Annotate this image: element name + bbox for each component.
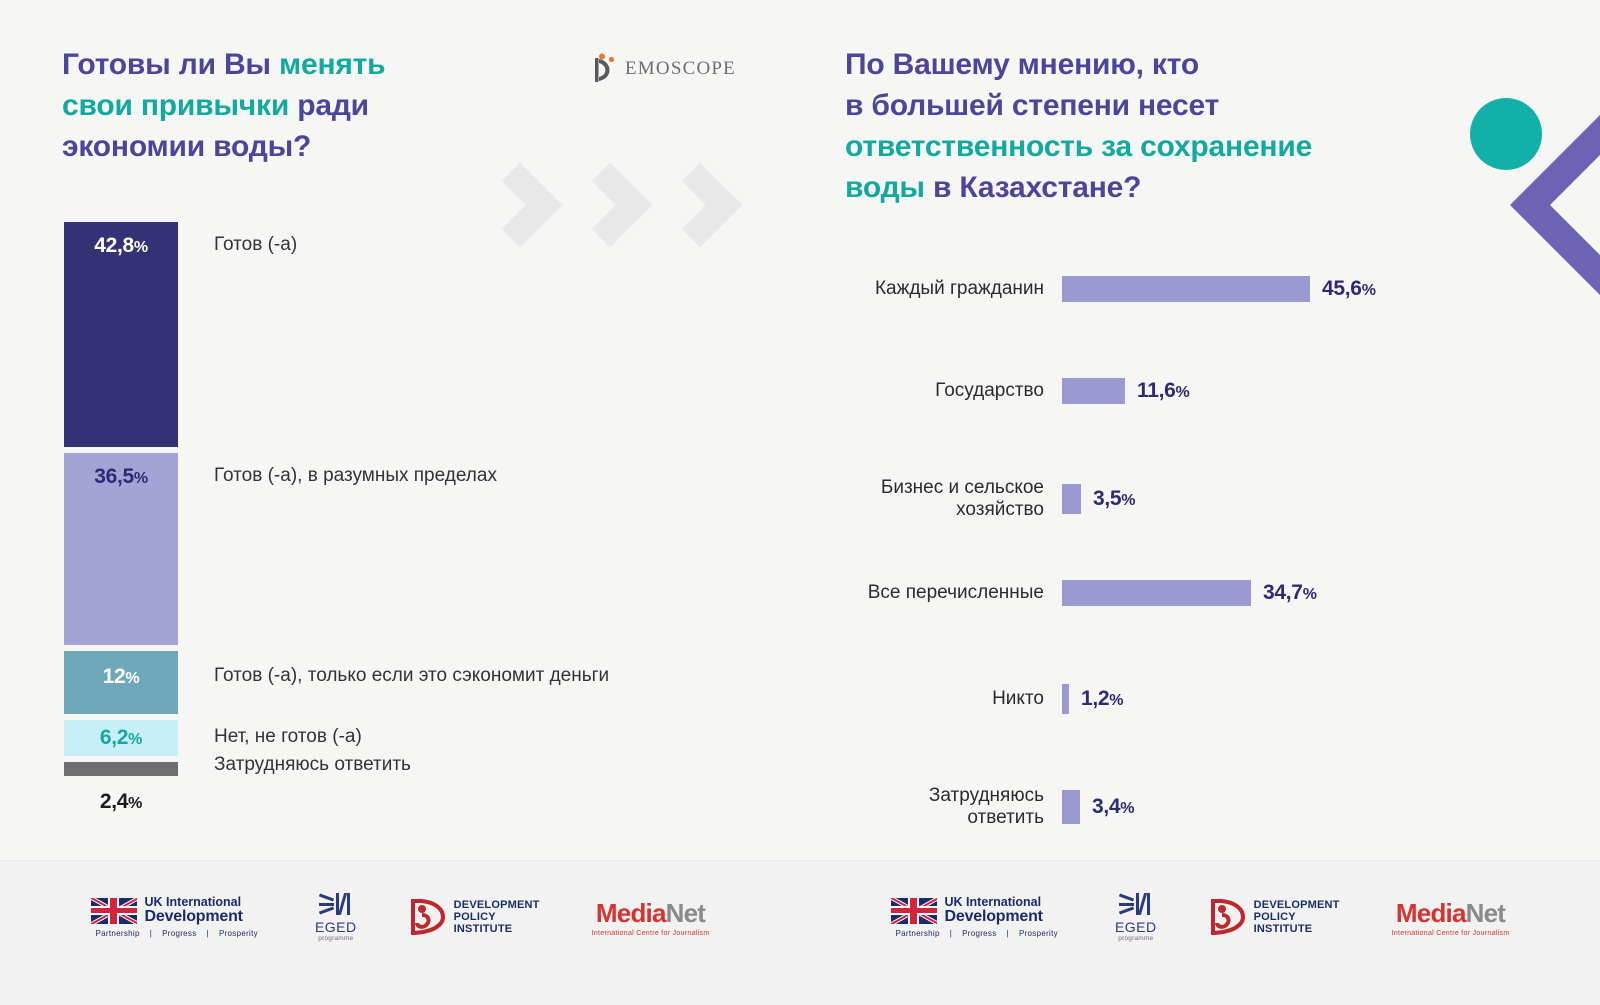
title-part: воды	[845, 171, 933, 204]
ukaid-tagline: Partnership|Progress|Prosperity	[91, 929, 263, 938]
row-value-label: 11,6%	[1137, 379, 1189, 403]
row-bar	[1062, 790, 1080, 824]
dpi-mark-icon	[1209, 899, 1245, 935]
row-category-label: Бизнес и сельскоехозяйство	[800, 477, 1062, 522]
ukaid-tagline: Partnership|Progress|Prosperity	[891, 929, 1063, 938]
row-zatrudnyayus-otvetit[interactable]: Затрудняюсьответить 3,4%	[800, 785, 1600, 830]
dpi-mark-icon	[409, 899, 445, 935]
row-category-label: Затрудняюсьответить	[800, 785, 1062, 830]
dpi-line2: POLICY	[454, 911, 540, 923]
title-part: ответственность за сохранение	[845, 130, 1312, 163]
row-kazhdyy-grazhdanin[interactable]: Каждый гражданин 45,6%	[800, 276, 1600, 302]
eged-mark-icon	[1119, 893, 1153, 917]
title-part: свои привычки	[62, 89, 297, 122]
row-value-label: 45,6%	[1322, 277, 1376, 301]
bar-gotov[interactable]: 42,8% Готов (-а)	[64, 222, 178, 447]
ukaid-line1: UK International	[945, 896, 1043, 909]
dpi-line1: DEVELOPMENT	[454, 899, 540, 911]
row-value-label: 3,4%	[1092, 795, 1134, 819]
medianet-wordmark: MediaNet	[1396, 898, 1505, 929]
row-category-label: Никто	[800, 688, 1062, 710]
ukaid-line2: Development	[945, 909, 1043, 925]
bar-category-label: Готов (-а), в разумных пределах	[214, 465, 497, 487]
dpi-line3: INSTITUTE	[1254, 923, 1340, 935]
bar-category-label: Нет, не готов (-а)	[214, 726, 362, 748]
row-biznes-selskoe-hozyaystvo[interactable]: Бизнес и сельскоехозяйство 3,5%	[800, 477, 1600, 522]
row-bar	[1062, 580, 1251, 606]
title-part: Готовы ли Вы	[62, 48, 279, 81]
ukaid-line2: Development	[145, 909, 243, 925]
row-bar	[1062, 684, 1069, 714]
infographic-canvas: Готовы ли Вы менять свои привычки ради э…	[0, 0, 1600, 1005]
row-gosudarstvo[interactable]: Государство 11,6%	[800, 378, 1600, 404]
row-value-label: 1,2%	[1081, 687, 1123, 711]
bar-value-label: 6,2%	[64, 720, 178, 750]
row-value-label: 3,5%	[1093, 487, 1135, 511]
union-jack-icon	[891, 898, 937, 924]
medianet-logo: MediaNet International Centre for Journa…	[1392, 898, 1510, 937]
right-page-title: По Вашему мнению, кто в большей степени …	[845, 44, 1425, 208]
row-category-label: Каждый гражданин	[800, 278, 1062, 300]
bar-category-label: Готов (-а)	[214, 234, 297, 256]
bar-net-ne-gotov[interactable]: 6,2% Нет, не готов (-а)	[64, 720, 178, 756]
row-value-label: 34,7%	[1263, 581, 1317, 605]
dpi-line3: INSTITUTE	[454, 923, 540, 935]
development-policy-institute-logo: DEVELOPMENT POLICY INSTITUTE	[409, 899, 540, 936]
medianet-wordmark: MediaNet	[596, 898, 705, 929]
development-policy-institute-logo: DEVELOPMENT POLICY INSTITUTE	[1209, 899, 1340, 936]
title-part: По Вашему мнению, кто	[845, 48, 1199, 81]
eged-mark-icon	[319, 893, 353, 917]
dpi-wordmark: DEVELOPMENT POLICY INSTITUTE	[454, 899, 540, 936]
footer-logo-band: UK International Development Partnership…	[0, 860, 1600, 1005]
bar-value-label-zatrudnyayus: 2,4%	[64, 790, 178, 814]
uk-international-development-logo: UK International Development Partnership…	[891, 896, 1063, 938]
title-part: в Казахстане?	[933, 171, 1141, 204]
eged-subtitle: programme	[1118, 935, 1153, 942]
eged-name: EGED	[1115, 919, 1157, 935]
row-vse-perechislennye[interactable]: Все перечисленные 34,7%	[800, 580, 1600, 606]
medianet-subtitle: International Centre for Journalism	[592, 930, 710, 937]
demoscope-wordmark: EMOSCOPE	[625, 58, 736, 80]
title-part: в большей степени несет	[845, 89, 1219, 122]
dpi-line2: POLICY	[1254, 911, 1340, 923]
title-part: экономии воды?	[62, 130, 311, 163]
row-bar	[1062, 484, 1081, 514]
row-bar	[1062, 276, 1310, 302]
ukaid-line1: UK International	[145, 896, 243, 909]
bar-zatrudnyayus[interactable]: Затрудняюсь ответить	[64, 762, 178, 776]
demoscope-logo: EMOSCOPE	[590, 52, 736, 86]
row-category-label: Государство	[800, 380, 1062, 402]
footer-logos-right: UK International Development Partnership…	[800, 877, 1600, 957]
bar-value-label: 42,8%	[64, 222, 178, 258]
eged-name: EGED	[315, 919, 357, 935]
medianet-logo: MediaNet International Centre for Journa…	[592, 898, 710, 937]
eged-subtitle: programme	[318, 935, 353, 942]
left-stacked-chart: 42,8% Готов (-а) 36,5% Готов (-а), в раз…	[64, 222, 178, 776]
bar-value-label: 12%	[64, 651, 178, 689]
title-part: ради	[297, 89, 369, 122]
left-page-title: Готовы ли Вы менять свои привычки ради э…	[62, 44, 492, 167]
footer-logos-left: UK International Development Partnership…	[0, 877, 800, 957]
union-jack-icon	[91, 898, 137, 924]
row-category-label: Все перечисленные	[800, 582, 1062, 604]
bar-category-label: Затрудняюсь ответить	[214, 754, 411, 776]
bar-gotov-dengi[interactable]: 12% Готов (-а), только если это сэкономи…	[64, 651, 178, 714]
dpi-wordmark: DEVELOPMENT POLICY INSTITUTE	[1254, 899, 1340, 936]
bar-value-label: 36,5%	[64, 453, 178, 489]
bar-category-label: Готов (-а), только если это сэкономит де…	[214, 665, 609, 687]
right-panel: По Вашему мнению, кто в большей степени …	[800, 0, 1600, 860]
uk-international-development-logo: UK International Development Partnership…	[91, 896, 263, 938]
medianet-subtitle: International Centre for Journalism	[1392, 930, 1510, 937]
title-part: менять	[279, 48, 385, 81]
eged-logo: EGED programme	[1115, 893, 1157, 942]
demoscope-d-icon	[590, 52, 624, 86]
eged-logo: EGED programme	[315, 893, 357, 942]
bar-gotov-razumnyh[interactable]: 36,5% Готов (-а), в разумных пределах	[64, 453, 178, 645]
row-nikto[interactable]: Никто 1,2%	[800, 684, 1600, 714]
row-bar	[1062, 378, 1125, 404]
left-panel: Готовы ли Вы менять свои привычки ради э…	[0, 0, 800, 860]
dpi-line1: DEVELOPMENT	[1254, 899, 1340, 911]
